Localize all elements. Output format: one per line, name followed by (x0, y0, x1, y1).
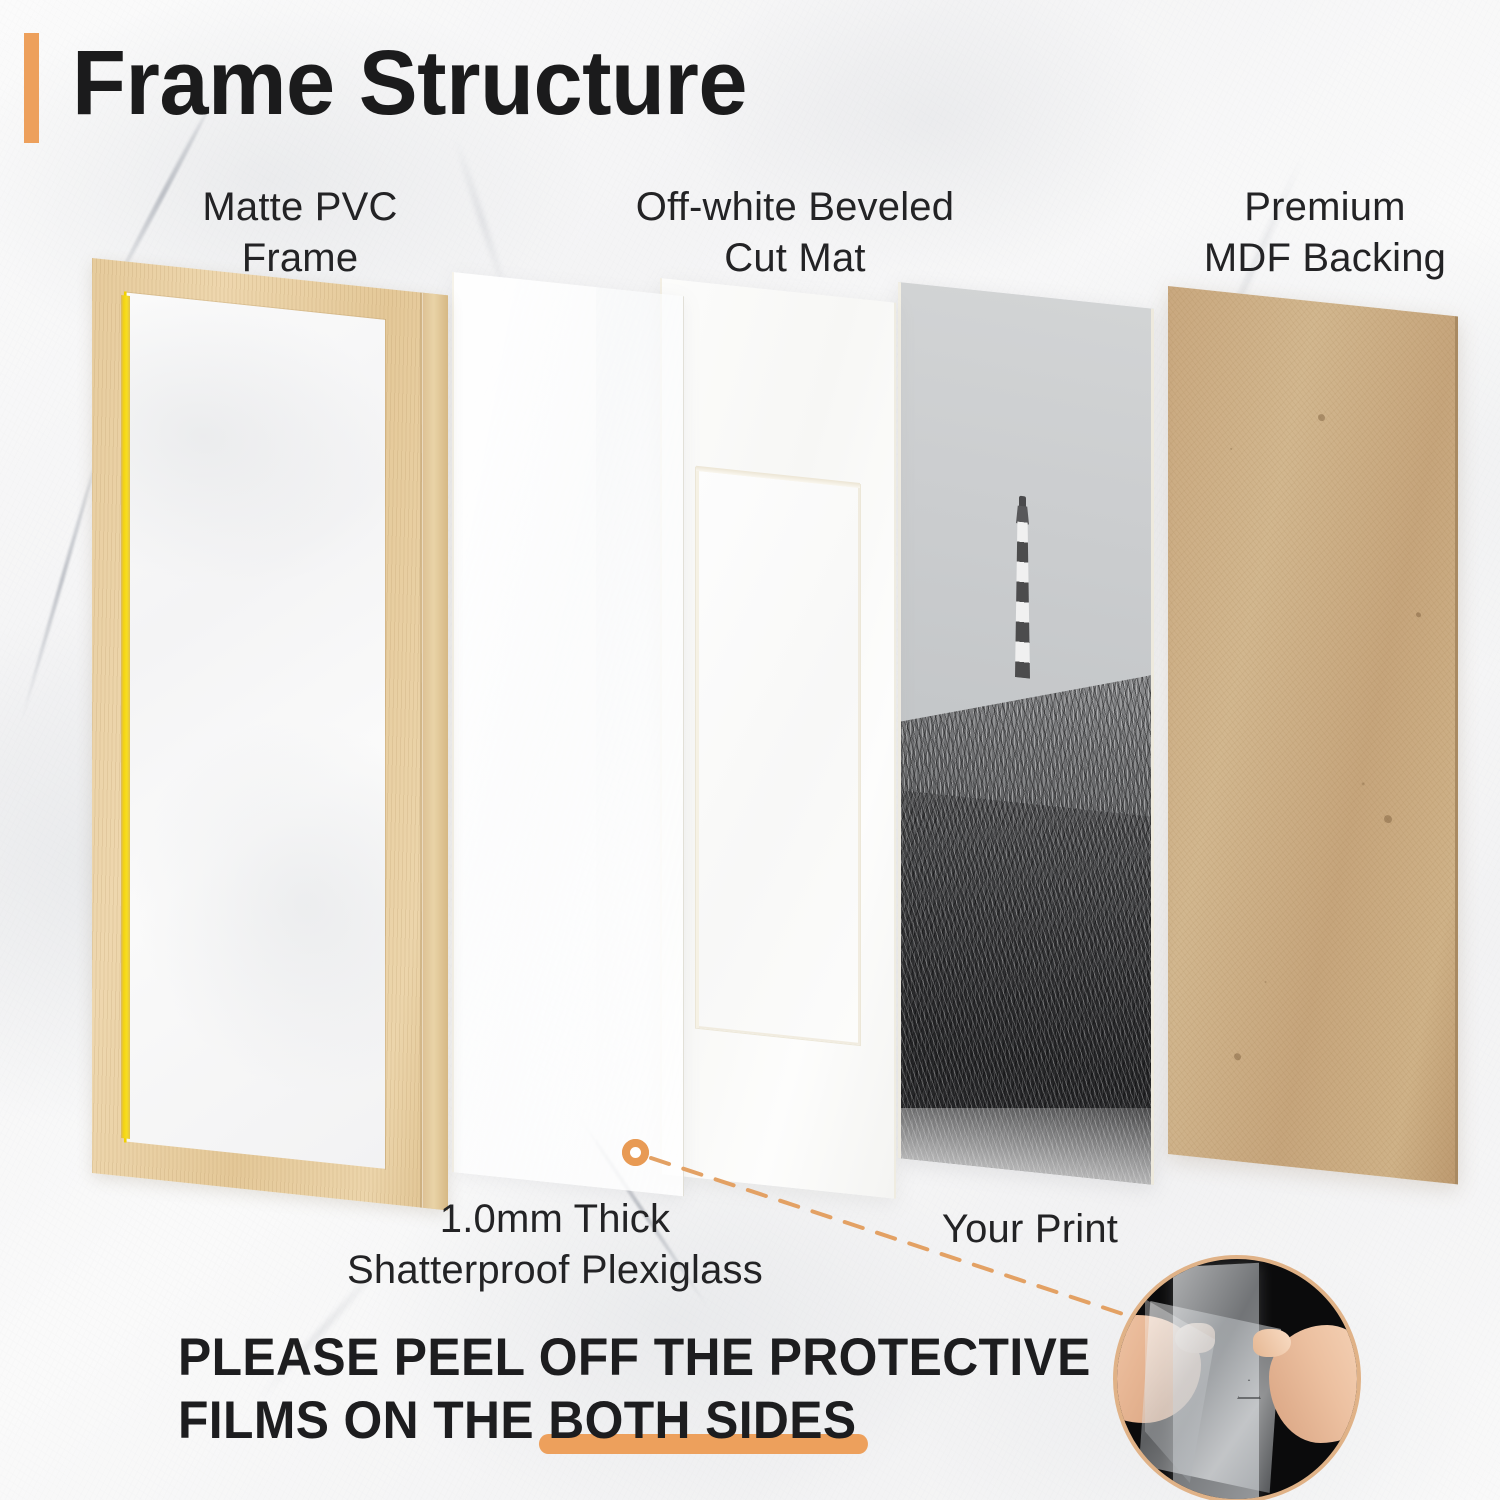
notice-line-2-prefix: FILMS ON THE (178, 1391, 548, 1450)
notice-line-2: FILMS ON THE BOTH SIDES (178, 1390, 1024, 1453)
label-plexiglass: 1.0mm Thick Shatterproof Plexiglass (280, 1194, 830, 1296)
mdf-speck (1234, 1053, 1241, 1061)
layer-plexiglass (452, 272, 684, 1196)
label-backing: Premium MDF Backing (1145, 182, 1500, 284)
mat-window-opening (696, 468, 860, 1045)
label-mat: Off-white Beveled Cut Mat (565, 182, 1025, 284)
peel-notice: PLEASE PEEL OFF THE PROTECTIVE FILMS ON … (178, 1327, 1024, 1452)
label-mat-line1: Off-white Beveled (636, 185, 954, 229)
label-plexiglass-line1: 1.0mm Thick (440, 1197, 670, 1241)
right-hand (1269, 1325, 1361, 1443)
label-frame-line2: Frame (242, 236, 359, 280)
label-backing-line1: Premium (1244, 185, 1405, 229)
label-print-text: Your Print (942, 1207, 1118, 1251)
mdf-speck (1416, 612, 1421, 618)
label-mat-line2: Cut Mat (724, 236, 865, 280)
mdf-speck (1384, 815, 1392, 824)
connector-origin-dot (622, 1139, 649, 1166)
label-plexiglass-line2: Shatterproof Plexiglass (347, 1248, 763, 1292)
label-print: Your Print (885, 1204, 1175, 1255)
layer-frame (92, 258, 448, 1210)
peel-film-callout (1113, 1255, 1361, 1500)
infographic-page: Frame Structure (0, 0, 1500, 1500)
frame-side-face (422, 293, 448, 1211)
lighthouse-icon (1011, 487, 1035, 680)
frame-rabbet-edges (124, 291, 386, 1170)
lighthouse-body (1015, 521, 1030, 679)
layer-print (898, 282, 1154, 1185)
notice-highlight: BOTH SIDES (548, 1390, 856, 1453)
mdf-speck (1318, 414, 1325, 422)
label-frame-line1: Matte PVC (202, 185, 397, 229)
notice-line-1: PLEASE PEEL OFF THE PROTECTIVE (178, 1327, 1024, 1390)
layer-mdf-backing (1168, 286, 1458, 1184)
plexiglass-gloss (454, 272, 596, 1187)
frame-yellow-rabbet (121, 295, 130, 1139)
layer-mat (660, 278, 896, 1199)
label-frame: Matte PVC Frame (150, 182, 450, 284)
label-backing-line2: MDF Backing (1204, 236, 1446, 280)
